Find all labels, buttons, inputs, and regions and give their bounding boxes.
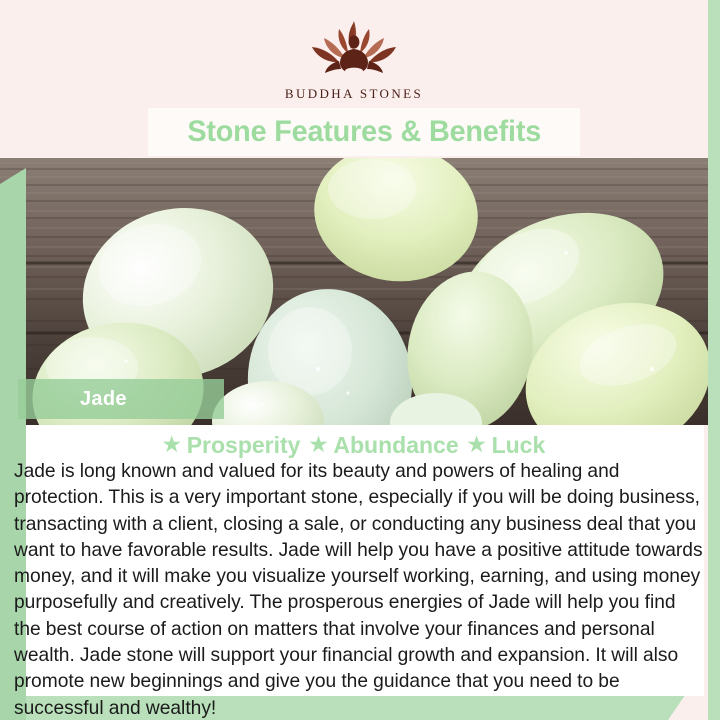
title-banner: Stone Features & Benefits (148, 108, 580, 156)
infographic-canvas: BUDDHA STONES Stone Features & Benefits (0, 0, 720, 720)
stone-name-tag: Jade (18, 379, 224, 419)
right-edge-accent-bar (708, 0, 720, 720)
lotus-meditation-icon (295, 16, 413, 82)
brand-logo: BUDDHA STONES (0, 16, 708, 102)
brand-name: BUDDHA STONES (285, 86, 423, 102)
star-icon: ★ (163, 435, 181, 455)
benefit-label: Abundance (333, 432, 458, 459)
benefit-item-abundance: ★ Abundance (309, 432, 458, 459)
benefits-row: ★ Prosperity ★ Abundance ★ Luck (0, 430, 708, 460)
benefit-item-luck: ★ Luck (468, 432, 546, 459)
benefit-item-prosperity: ★ Prosperity (163, 432, 301, 459)
benefit-label: Prosperity (187, 432, 301, 459)
page-title: Stone Features & Benefits (187, 115, 541, 149)
star-icon: ★ (468, 435, 486, 455)
star-icon: ★ (309, 435, 327, 455)
stone-name-label: Jade (80, 388, 127, 411)
description-text: Jade is long known and valued for its be… (14, 459, 706, 720)
benefit-label: Luck (492, 432, 546, 459)
